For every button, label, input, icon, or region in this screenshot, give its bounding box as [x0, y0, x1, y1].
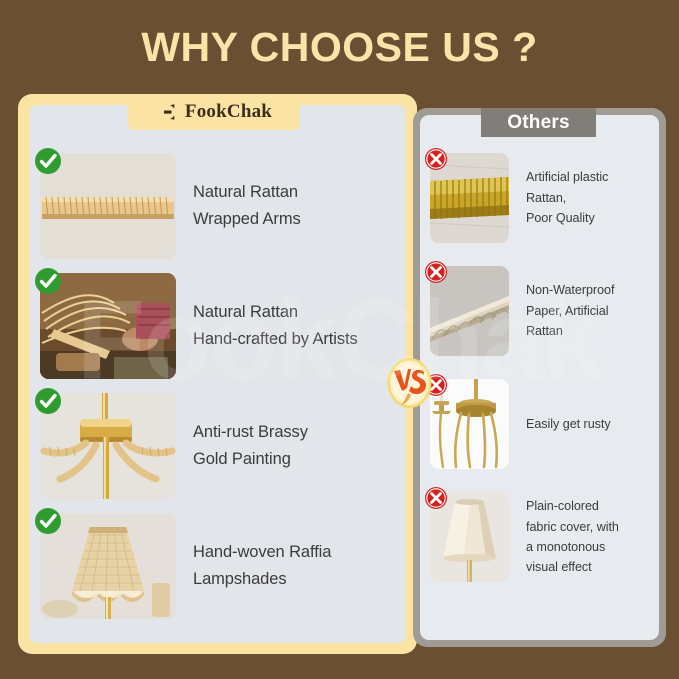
others-row-4-line-1: Plain-colored: [526, 496, 619, 516]
brass-chandelier-hub-photo: [40, 393, 176, 499]
brand-tab: FookChak: [128, 94, 300, 130]
others-tab: Others: [481, 108, 596, 137]
green-check-icon: [34, 507, 62, 535]
page-title: WHY CHOOSE US ?: [0, 24, 679, 71]
green-check-icon: [34, 267, 62, 295]
others-row-1-thumbnail[interactable]: [430, 153, 509, 243]
green-check-icon: [34, 147, 62, 175]
artisan-weaving-rattan-photo: [40, 273, 176, 379]
ours-panel: Natural Rattan Wrapped Arms: [18, 94, 417, 654]
list-item: Natural Rattan Wrapped Arms: [40, 153, 395, 259]
ours-row-4-thumbnail[interactable]: [40, 513, 176, 619]
ours-row-4-line-2: Lampshades: [193, 566, 331, 593]
list-item: Hand-woven Raffia Lampshades: [40, 513, 395, 619]
woven-raffia-lampshade-photo: [40, 513, 176, 619]
brass-hub-illustration: [40, 393, 176, 499]
ours-row-1-text: Natural Rattan Wrapped Arms: [193, 179, 301, 232]
comparison-board: Natural Rattan Wrapped Arms: [0, 94, 679, 664]
ours-row-3-text: Anti-rust Brassy Gold Painting: [193, 419, 308, 472]
others-row-4-line-4: visual effect: [526, 557, 619, 577]
others-row-2-line-1: Non-Waterproof: [526, 280, 614, 300]
list-item: Easily get rusty: [430, 379, 651, 469]
others-row-1-line-1: Artificial plastic: [526, 167, 608, 187]
list-item: Artificial plastic Rattan, Poor Quality: [430, 153, 651, 243]
ours-row-3-line-2: Gold Painting: [193, 446, 308, 473]
others-panel: Artificial plastic Rattan, Poor Quality: [413, 108, 666, 647]
others-row-1-text: Artificial plastic Rattan, Poor Quality: [526, 167, 608, 228]
ours-row-1-line-2: Wrapped Arms: [193, 206, 301, 233]
others-row-3-line-1: Easily get rusty: [526, 414, 611, 434]
green-check-icon: [34, 387, 62, 415]
ours-row-2-text: Natural Rattan Hand-crafted by Artists: [193, 299, 358, 352]
others-row-1-line-3: Poor Quality: [526, 208, 608, 228]
ours-row-3-thumbnail[interactable]: [40, 393, 176, 499]
red-x-icon: [424, 486, 448, 510]
brand-name: FookChak: [185, 101, 272, 123]
others-tab-label: Others: [507, 112, 569, 134]
list-item: Anti-rust Brassy Gold Painting: [40, 393, 395, 499]
others-row-2-thumbnail[interactable]: [430, 266, 509, 356]
ours-row-2-line-1: Natural Rattan: [193, 299, 358, 326]
red-x-icon: [424, 260, 448, 284]
others-row-4-line-3: a monotonous: [526, 537, 619, 557]
raffia-lampshade-illustration: [40, 513, 176, 619]
ours-row-2-thumbnail[interactable]: [40, 273, 176, 379]
ours-panel-inner: Natural Rattan Wrapped Arms: [29, 105, 406, 643]
others-row-1-line-2: Rattan,: [526, 188, 608, 208]
red-x-icon: [424, 147, 448, 171]
ours-row-4-line-1: Hand-woven Raffia: [193, 539, 331, 566]
others-row-2-line-2: Paper, Artificial: [526, 301, 614, 321]
ours-row-1-line-1: Natural Rattan: [193, 179, 301, 206]
ours-feature-list: Natural Rattan Wrapped Arms: [40, 153, 395, 619]
list-item: Non-Waterproof Paper, Artificial Rattan: [430, 266, 651, 356]
others-row-2-line-3: Rattan: [526, 321, 614, 341]
others-row-3-text: Easily get rusty: [526, 414, 611, 434]
rattan-wrapped-arm-photo: [40, 153, 176, 259]
list-item: Plain-colored fabric cover, with a monot…: [430, 492, 651, 582]
ours-row-4-text: Hand-woven Raffia Lampshades: [193, 539, 331, 592]
vs-badge-icon: [386, 357, 433, 409]
others-row-4-line-2: fabric cover, with: [526, 517, 619, 537]
ours-row-2-line-2: Hand-crafted by Artists: [193, 326, 358, 353]
others-feature-list: Artificial plastic Rattan, Poor Quality: [430, 153, 651, 582]
fookchak-c-logo-icon: [156, 101, 178, 123]
others-row-2-text: Non-Waterproof Paper, Artificial Rattan: [526, 280, 614, 341]
others-row-4-thumbnail[interactable]: [430, 492, 509, 582]
rattan-arm-illustration: [40, 153, 176, 259]
weaving-illustration: [40, 273, 176, 379]
others-row-4-text: Plain-colored fabric cover, with a monot…: [526, 496, 619, 578]
ours-row-1-thumbnail[interactable]: [40, 153, 176, 259]
list-item: Natural Rattan Hand-crafted by Artists: [40, 273, 395, 379]
ours-row-3-line-1: Anti-rust Brassy: [193, 419, 308, 446]
others-row-3-thumbnail[interactable]: [430, 379, 509, 469]
others-panel-inner: Artificial plastic Rattan, Poor Quality: [420, 115, 659, 640]
